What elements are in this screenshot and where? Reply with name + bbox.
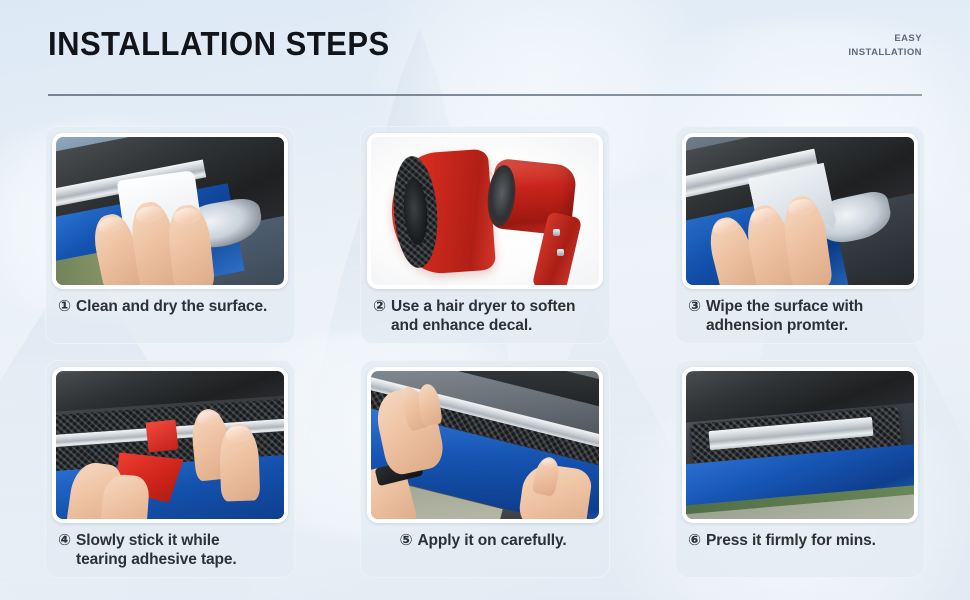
step-card-5: ⑤ Apply it on carefully. (360, 360, 610, 578)
dryer-button (557, 249, 564, 256)
step-number-4: ④ (58, 531, 71, 569)
red-adhesive-tab (146, 420, 179, 453)
step-caption-1: ① Clean and dry the surface. (52, 289, 288, 316)
page-title: INSTALLATION STEPS (48, 22, 870, 66)
step-number-6: ⑥ (688, 531, 701, 550)
step-photo-5 (367, 367, 603, 523)
step-text-4: Slowly stick it while tearing adhesive t… (76, 531, 237, 569)
header: INSTALLATION STEPS EASY INSTALLATION (48, 22, 922, 100)
step-number-2: ② (373, 297, 386, 335)
step-card-2: ② Use a hair dryer to soften and enhance… (360, 126, 610, 344)
step-number-3: ③ (688, 297, 701, 335)
step-photo-6 (682, 367, 918, 523)
step-caption-2: ② Use a hair dryer to soften and enhance… (367, 289, 603, 335)
step-number-5: ⑤ (399, 531, 412, 550)
step-card-3: ③ Wipe the surface with adhension promte… (675, 126, 925, 344)
installation-steps-poster: INSTALLATION STEPS EASY INSTALLATION (0, 0, 970, 600)
step-text-6: Press it firmly for mins. (706, 531, 876, 550)
step-number-1: ① (58, 297, 71, 316)
tagline: EASY INSTALLATION (848, 32, 922, 60)
dryer-button (553, 229, 560, 236)
step-text-3: Wipe the surface with adhension promter. (706, 297, 863, 335)
header-divider (48, 94, 922, 96)
step-caption-3: ③ Wipe the surface with adhension promte… (682, 289, 918, 335)
step-caption-5: ⑤ Apply it on carefully. (367, 523, 603, 550)
tagline-line-1: EASY (848, 32, 922, 46)
step-card-4: ④ Slowly stick it while tearing adhesive… (45, 360, 295, 578)
step-card-1: ① Clean and dry the surface. (45, 126, 295, 344)
tagline-line-2: INSTALLATION (848, 46, 922, 60)
step-photo-1 (52, 133, 288, 289)
step-card-6: ⑥ Press it firmly for mins. (675, 360, 925, 578)
step-text-1: Clean and dry the surface. (76, 297, 267, 316)
step-photo-4 (52, 367, 288, 523)
step-caption-6: ⑥ Press it firmly for mins. (682, 523, 918, 550)
step-photo-2 (367, 133, 603, 289)
step-caption-4: ④ Slowly stick it while tearing adhesive… (52, 523, 288, 569)
steps-grid: ① Clean and dry the surface. (45, 126, 925, 578)
step-photo-3 (682, 133, 918, 289)
step-text-2: Use a hair dryer to soften and enhance d… (391, 297, 575, 335)
step-text-5: Apply it on carefully. (417, 531, 566, 550)
